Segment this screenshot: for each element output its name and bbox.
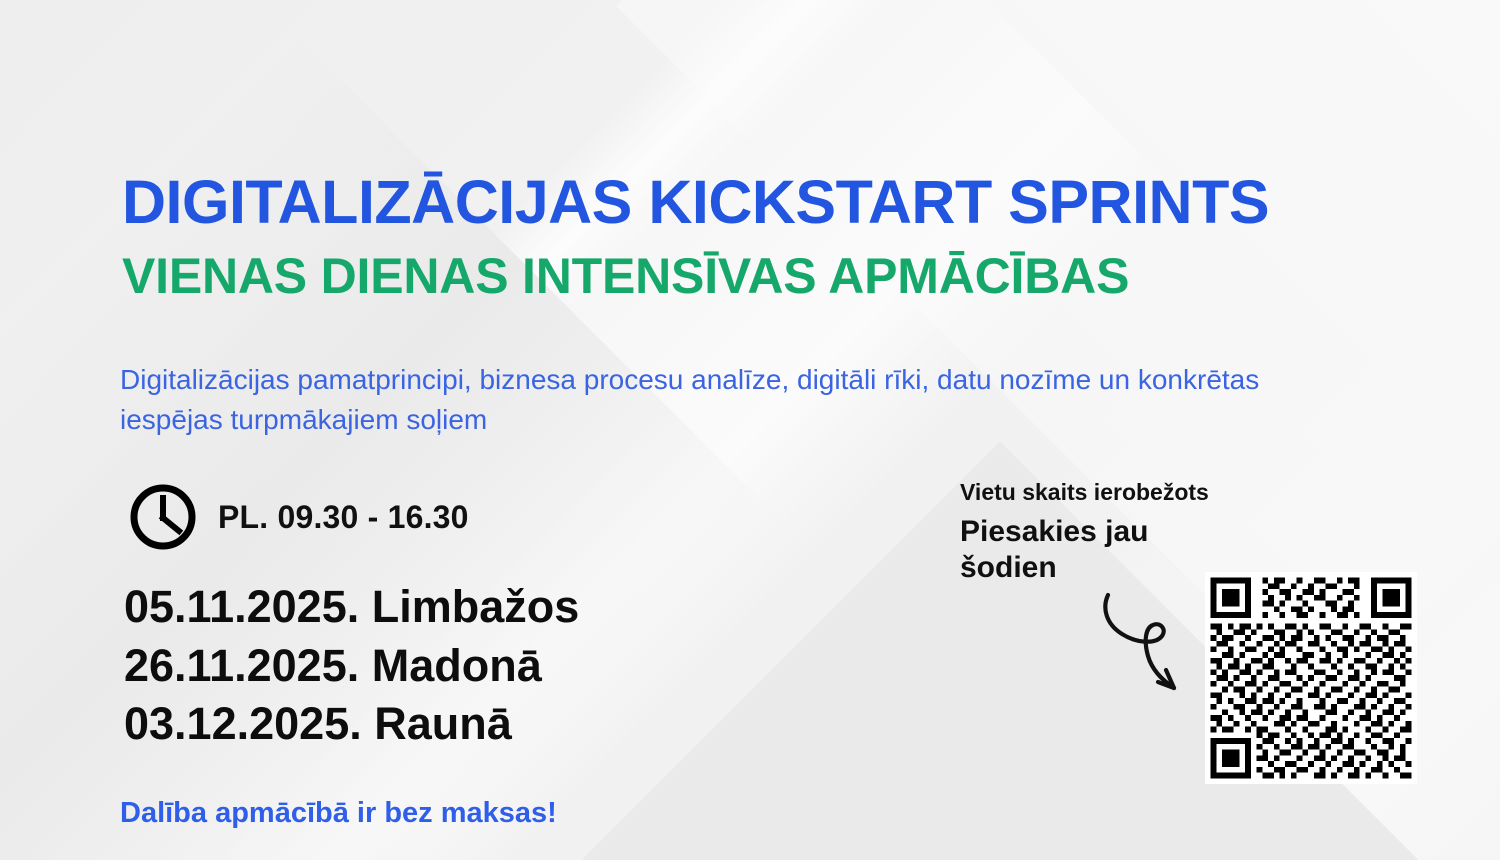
qr-code[interactable] xyxy=(1205,572,1417,784)
signup-line-1: Piesakies jau xyxy=(960,515,1148,548)
poster-canvas: DIGITALIZĀCIJAS KICKSTART SPRINTS VIENAS… xyxy=(0,0,1500,860)
dates-list: 05.11.2025. Limbažos 26.11.2025. Madonā … xyxy=(124,578,579,754)
page-title: DIGITALIZĀCIJAS KICKSTART SPRINTS xyxy=(122,172,1269,233)
clock-icon xyxy=(128,482,198,552)
limited-seats-label: Vietu skaits ierobežots xyxy=(960,480,1320,506)
free-participation-note: Dalība apmācībā ir bez maksas! xyxy=(120,797,557,830)
poster-content: DIGITALIZĀCIJAS KICKSTART SPRINTS VIENAS… xyxy=(0,0,1500,860)
lead-paragraph: Digitalizācijas pamatprincipi, biznesa p… xyxy=(120,360,1320,440)
title-block: DIGITALIZĀCIJAS KICKSTART SPRINTS VIENAS… xyxy=(122,172,1269,301)
time-row: PL. 09.30 - 16.30 xyxy=(128,482,469,552)
page-subtitle: VIENAS DIENAS INTENSĪVAS APMĀCĪBAS xyxy=(122,251,1269,301)
time-label: PL. 09.30 - 16.30 xyxy=(218,499,469,536)
list-item: 05.11.2025. Limbažos xyxy=(124,578,579,637)
cta-block: Vietu skaits ierobežots Piesakies jau šo… xyxy=(960,480,1320,587)
curved-arrow-icon xyxy=(1082,578,1212,708)
list-item: 26.11.2025. Madonā xyxy=(124,637,579,696)
list-item: 03.12.2025. Raunā xyxy=(124,695,579,754)
signup-line-2: šodien xyxy=(960,551,1057,584)
